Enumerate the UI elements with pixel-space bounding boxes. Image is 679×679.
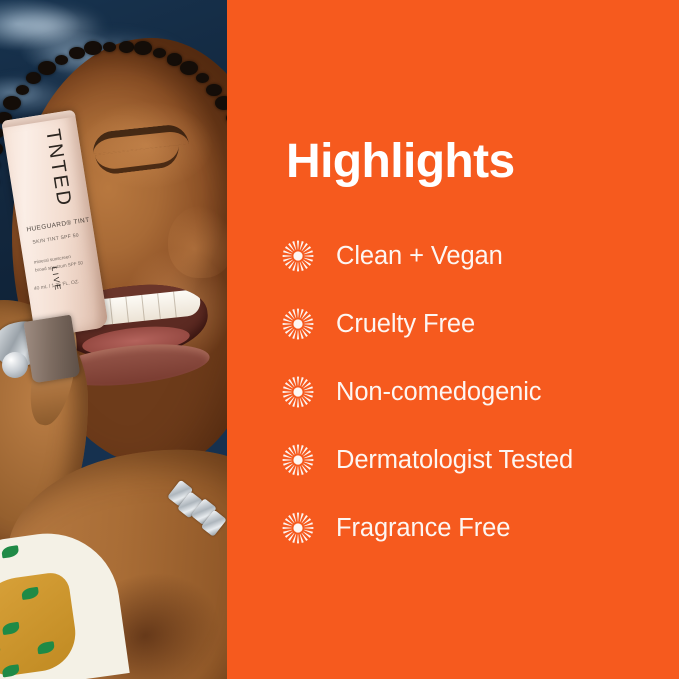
highlight-label: Cruelty Free	[336, 310, 475, 339]
braid	[26, 72, 42, 84]
page-title: Highlights	[286, 138, 515, 186]
braid	[69, 47, 85, 59]
tube-product-spf: SKIN TINT SPF 50	[32, 232, 79, 245]
highlight-item: Non-comedogenic	[282, 358, 679, 426]
highlight-label: Non-comedogenic	[336, 378, 541, 407]
braid	[119, 41, 135, 53]
highlight-item: Dermatologist Tested	[282, 426, 679, 494]
braid	[196, 73, 209, 83]
sunburst-icon	[282, 512, 314, 544]
highlight-item: Clean + Vegan	[282, 222, 679, 290]
braid	[206, 84, 222, 96]
highlight-label: Fragrance Free	[336, 514, 510, 543]
braid	[103, 42, 116, 52]
braid	[55, 55, 68, 65]
braid	[38, 61, 56, 75]
braid	[153, 48, 166, 58]
nose	[168, 206, 227, 278]
sunburst-icon	[282, 376, 314, 408]
braid	[215, 96, 227, 110]
braid	[16, 85, 29, 95]
highlight-label: Clean + Vegan	[336, 242, 503, 271]
highlight-item: Cruelty Free	[282, 290, 679, 358]
highlights-panel: Highlights Clean + Vegan Cruelty Free No…	[227, 0, 679, 679]
highlight-label: Dermatologist Tested	[336, 446, 573, 475]
lifestyle-photo: TNTED LIVE HUEGUARD® TINT SKIN TINT SPF …	[0, 0, 227, 679]
braid	[3, 96, 21, 110]
highlights-list: Clean + Vegan Cruelty Free Non-comedogen…	[282, 222, 679, 562]
sunburst-icon	[282, 240, 314, 272]
tube-product-name: HUEGUARD® TINT	[26, 217, 90, 234]
ring-stone	[2, 352, 28, 378]
product-highlights-banner: TNTED LIVE HUEGUARD® TINT SKIN TINT SPF …	[0, 0, 679, 679]
braid	[180, 61, 198, 75]
braid	[0, 142, 3, 156]
tube-brand-text: TNTED	[40, 128, 75, 210]
highlight-item: Fragrance Free	[282, 494, 679, 562]
shirt-leaf-motif	[1, 545, 19, 558]
sunburst-icon	[282, 308, 314, 340]
tube-cap	[23, 315, 80, 384]
braid	[134, 41, 152, 55]
braid	[84, 41, 102, 55]
sunburst-icon	[282, 444, 314, 476]
